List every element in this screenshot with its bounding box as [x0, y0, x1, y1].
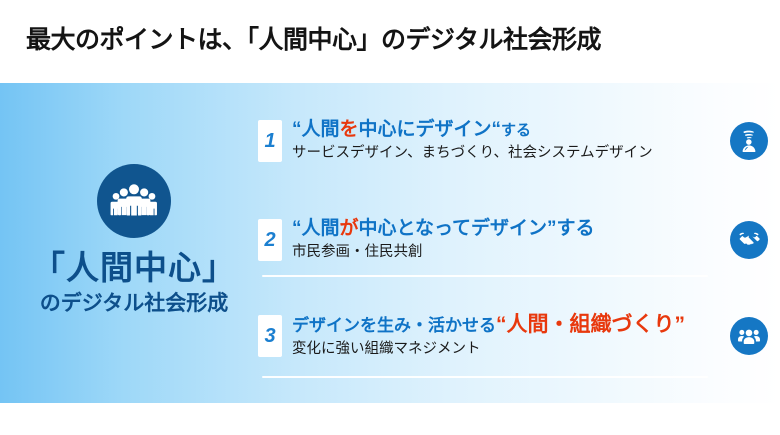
- item-number: 1: [264, 131, 275, 151]
- headline-part: 中心にデザイン“: [359, 119, 502, 140]
- item-subtitle: 変化に強い組織マネジメント: [292, 340, 722, 359]
- item-number: 2: [264, 230, 275, 250]
- headline-part: “人間: [292, 119, 340, 140]
- item-headline: “人間が中心となってデザイン”する: [292, 218, 722, 240]
- headline-part: 中心となってデザイン”: [359, 218, 557, 239]
- page-title: 最大のポイントは、「人間中心」のデジタル社会形成: [26, 20, 601, 56]
- headline-part: する: [501, 122, 531, 139]
- slide-root: 最大のポイントは、「人間中心」のデジタル社会形成: [0, 0, 780, 435]
- item-number-badge: 2: [258, 219, 282, 261]
- item-headline: “人間を中心にデザイン“する: [292, 119, 722, 141]
- item-number: 3: [264, 326, 275, 346]
- content-panel: 「人間中心」 のデジタル社会形成 1 “人間を中心にデザイン“する サービスデザ…: [0, 83, 780, 403]
- headline-part-highlight: を: [340, 119, 359, 140]
- left-block-title: 「人間中心」: [32, 250, 236, 286]
- item-headline: デザインを生み・活かせる“人間・組織づくり”: [292, 313, 722, 338]
- headline-part-highlight: が: [340, 218, 359, 239]
- people-group-icon: [730, 317, 768, 355]
- item-number-badge: 3: [258, 315, 282, 357]
- item-text-block: デザインを生み・活かせる“人間・組織づくり” 変化に強い組織マネジメント: [292, 313, 722, 360]
- list-item[interactable]: 3 デザインを生み・活かせる“人間・組織づくり” 変化に強い組織マネジメント: [258, 305, 768, 367]
- item-subtitle: 市民参画・住民共創: [292, 243, 722, 262]
- item-subtitle: サービスデザイン、まちづくり、社会システムデザイン: [292, 144, 722, 163]
- left-summary-block: 「人間中心」 のデジタル社会形成: [18, 83, 250, 403]
- item-text-block: “人間を中心にデザイン“する サービスデザイン、まちづくり、社会システムデザイン: [292, 119, 722, 163]
- thinking-person-icon: [730, 122, 768, 160]
- points-list: 1 “人間を中心にデザイン“する サービスデザイン、まちづくり、社会システムデザ…: [258, 83, 768, 403]
- item-text-block: “人間が中心となってデザイン”する 市民参画・住民共創: [292, 218, 722, 262]
- group-of-people-icon: [97, 164, 171, 238]
- headline-part-highlight: “人間・組織づくり”: [496, 313, 685, 336]
- headline-part: “人間: [292, 218, 340, 239]
- list-item[interactable]: 1 “人間を中心にデザイン“する サービスデザイン、まちづくり、社会システムデザ…: [258, 110, 768, 172]
- headline-part: デザインを生み・活かせる: [292, 316, 496, 335]
- list-item[interactable]: 2 “人間が中心となってデザイン”する 市民参画・住民共創: [258, 209, 768, 271]
- left-block-subtitle: のデジタル社会形成: [40, 291, 229, 316]
- item-number-badge: 1: [258, 120, 282, 162]
- handshake-icon: [730, 221, 768, 259]
- headline-part: する: [557, 218, 595, 239]
